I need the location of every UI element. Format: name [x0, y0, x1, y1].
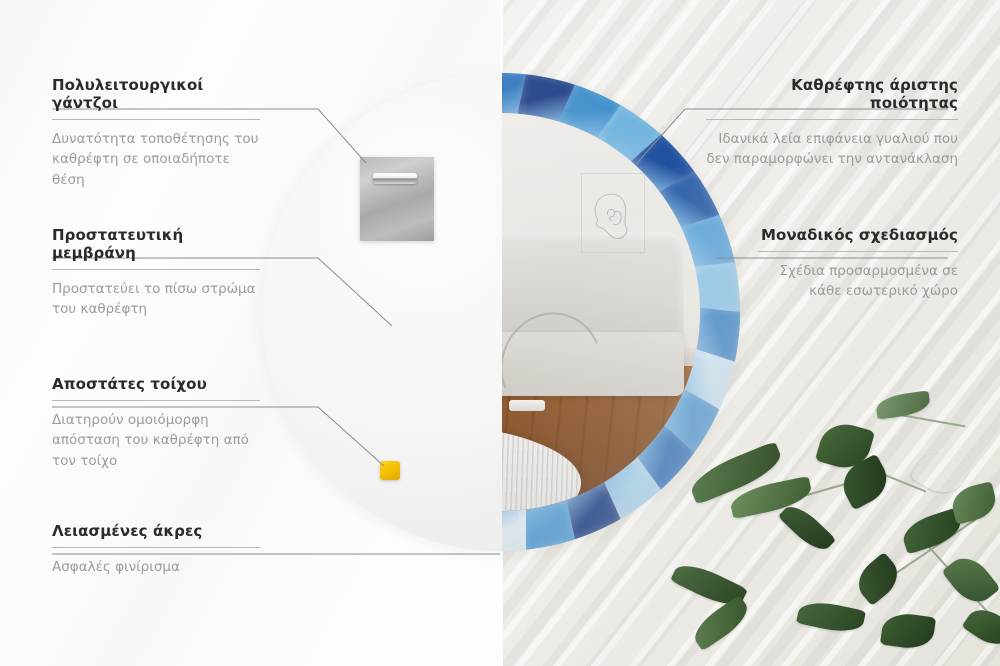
leaf — [688, 595, 754, 651]
callout-title: Πολυλειτουργικοί γάντζοι — [52, 76, 260, 112]
leaf — [796, 597, 866, 636]
callout-body: Προστατεύει το πίσω στρώμα του καθρέφτη — [52, 279, 260, 320]
leaf — [778, 499, 836, 557]
yellow-wall-spacer — [380, 461, 400, 480]
hook-mounting-plate — [360, 157, 434, 241]
callout-title: Προστατευτική μεμβράνη — [52, 226, 260, 262]
callout-body: Ιδανικά λεία επιφάνεια γυαλιού που δεν π… — [706, 129, 958, 170]
callout-protective-membrane: Προστατευτική μεμβράνη Προστατεύει το πί… — [52, 226, 260, 320]
callout-rule — [52, 119, 260, 120]
round-mirror — [262, 73, 740, 551]
callout-title: Καθρέφτης άριστης ποιότητας — [706, 76, 958, 112]
callout-title: Μοναδικός σχεδιασμός — [758, 226, 958, 244]
callout-rule — [52, 269, 260, 270]
callout-body: Διατηρούν ομοιόμορφη απόσταση του καθρέφ… — [52, 410, 260, 471]
callout-rule — [706, 119, 958, 120]
leaf — [850, 552, 906, 606]
callout-body: Δυνατότητα τοποθέτησης του καθρέφτη σε ο… — [52, 129, 260, 190]
product-infographic: Πολυλειτουργικοί γάντζοι Δυνατότητα τοπο… — [0, 0, 1000, 666]
callout-rule — [758, 251, 958, 252]
reflected-lamp-base — [509, 400, 545, 412]
leaf — [880, 611, 936, 652]
callout-title: Αποστάτες τοίχου — [52, 375, 260, 393]
callout-body: Σχέδια προσαρμοσμένα σε κάθε εσωτερικό χ… — [758, 261, 958, 302]
callout-multifunctional-hooks: Πολυλειτουργικοί γάντζοι Δυνατότητα τοπο… — [52, 76, 260, 190]
callout-rule — [52, 400, 260, 401]
callout-smoothed-edges: Λειασμένες άκρες Ασφαλές φινίρισμα — [52, 522, 260, 577]
callout-top-quality-mirror: Καθρέφτης άριστης ποιότητας Ιδανικά λεία… — [706, 76, 958, 170]
callout-title: Λειασμένες άκρες — [52, 522, 260, 540]
callout-wall-spacers: Αποστάτες τοίχου Διατηρούν ομοιόμορφη απ… — [52, 375, 260, 471]
plant-foliage — [670, 366, 1000, 666]
callout-unique-design: Μοναδικός σχεδιασμός Σχέδια προσαρμοσμέν… — [758, 226, 958, 302]
callout-body: Ασφαλές φινίρισμα — [52, 557, 260, 577]
leaf — [941, 549, 1000, 611]
callout-rule — [52, 547, 260, 548]
leaf — [875, 390, 932, 419]
leaf — [962, 602, 1000, 653]
engraved-logo-plate — [581, 173, 645, 253]
